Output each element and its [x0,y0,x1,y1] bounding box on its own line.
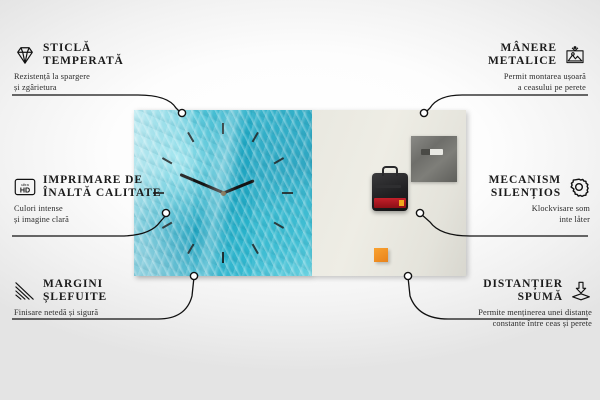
feature-title-text: STICLĂTEMPERATĂ [43,42,124,68]
feature-polished-edges: MARGINIȘLEFUITE Finisare netedă și sigur… [14,278,204,319]
clock-center-pin [221,191,226,196]
feature-title-text: MECANISMSILENȚIOS [489,174,561,200]
feature-title: MARGINIȘLEFUITE [14,278,204,304]
svg-text:HD: HD [20,187,30,195]
gear-icon [568,177,590,197]
feature-title: DISTANȚIERSPUMĂ [382,278,592,304]
movement-detail [375,185,401,188]
beveled-edge-icon [14,281,36,301]
foam-spacer [374,248,388,262]
feature-subtitle: Culori intenseși imagine clară [14,204,204,225]
diamond-icon [14,45,36,65]
feature-subtitle: Rezistență la spargereși zgârietura [14,72,194,93]
feature-silent-mechanism: MECANISMSILENȚIOS Klockvisare sominte lå… [400,174,590,225]
feature-foam-spacer: DISTANȚIERSPUMĂ Permite menținerea unei … [382,278,592,329]
feature-subtitle: Permite menținerea unei distanțeconstant… [382,308,592,329]
dial-tick [222,193,259,255]
feature-tempered-glass: STICLĂTEMPERATĂ Rezistență la spargereși… [14,42,194,93]
feature-title-text: IMPRIMARE DEÎNALTĂ CALITATE [43,174,161,200]
feature-title: MÂNEREMETALICE [396,42,586,68]
press-down-icon [570,281,592,301]
feature-title-text: MÂNEREMETALICE [488,42,557,68]
feature-title-text: DISTANȚIERSPUMĂ [483,278,563,304]
feature-title: ultra HD IMPRIMARE DEÎNALTĂ CALITATE [14,174,204,200]
dial-tick [223,157,285,194]
dial-tick [222,132,259,194]
picture-hanger-icon [564,45,586,65]
movement-hook [382,166,398,176]
dial-tick [223,192,285,229]
feature-high-quality-print: ultra HD IMPRIMARE DEÎNALTĂ CALITATE Cul… [14,174,204,225]
feature-title: MECANISMSILENȚIOS [400,174,590,200]
feature-title: STICLĂTEMPERATĂ [14,42,194,68]
feature-subtitle: Permit montarea ușoarăa ceasului pe pere… [396,72,586,93]
feature-title-text: MARGINIȘLEFUITE [43,278,107,304]
infographic-stage: STICLĂTEMPERATĂ Rezistență la spargereși… [0,0,600,400]
feature-subtitle: Klockvisare sominte låter [400,204,590,225]
feature-subtitle: Finisare netedă și sigură [14,308,204,319]
hour-hand [222,179,254,194]
dial-tick [222,193,224,263]
feature-metal-handles: MÂNEREMETALICE Permit montarea ușoarăa c… [396,42,586,93]
dial-tick [222,123,224,193]
dial-tick [223,192,293,194]
hanger-slot [421,149,443,155]
ultra-hd-icon: ultra HD [14,177,36,197]
